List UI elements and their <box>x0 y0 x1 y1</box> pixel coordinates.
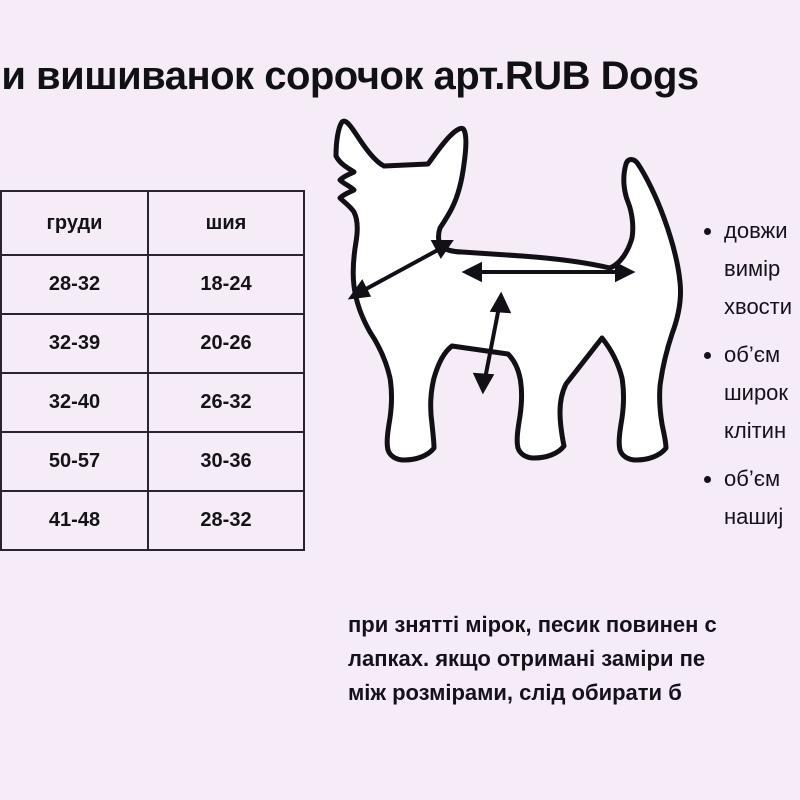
list-item: об’єм нашиј <box>700 460 800 536</box>
page-title: и вишиванок сорочок арт.RUB Dogs <box>0 54 800 99</box>
size-chart-page: и вишиванок сорочок арт.RUB Dogs а груди… <box>0 0 800 800</box>
table-cell: 32-40 <box>1 373 148 432</box>
table-header-cell: груди <box>1 191 148 255</box>
table-header-row: а груди шия <box>0 191 304 255</box>
table-cell: 50-57 <box>1 432 148 491</box>
table-cell: 20-26 <box>148 314 304 373</box>
size-table: а груди шия 28-32 18-24 32-39 20-26 32-4… <box>0 190 305 551</box>
list-item: довжи вимір хвости <box>700 212 800 326</box>
table-cell: 32-39 <box>1 314 148 373</box>
table-row: 32-40 26-32 <box>0 373 304 432</box>
dog-outline-shape <box>336 121 681 460</box>
table-row: 41-48 28-32 <box>0 491 304 550</box>
table-row: 28-32 18-24 <box>0 255 304 314</box>
table-cell: 26-32 <box>148 373 304 432</box>
list-item: об’єм широк клітин <box>700 336 800 450</box>
dog-illustration <box>322 112 702 512</box>
table-cell: 30-36 <box>148 432 304 491</box>
table-cell: 28-32 <box>1 255 148 314</box>
measurement-note: при знятті мірок, песик повинен с лапках… <box>348 608 800 710</box>
table-cell: 28-32 <box>148 491 304 550</box>
table-cell: 41-48 <box>1 491 148 550</box>
table-row: 50-57 30-36 <box>0 432 304 491</box>
measurement-instructions-list: довжи вимір хвости об’єм широк клітин об… <box>700 212 800 546</box>
table-cell: 18-24 <box>148 255 304 314</box>
table-header-cell: шия <box>148 191 304 255</box>
table-row: 32-39 20-26 <box>0 314 304 373</box>
